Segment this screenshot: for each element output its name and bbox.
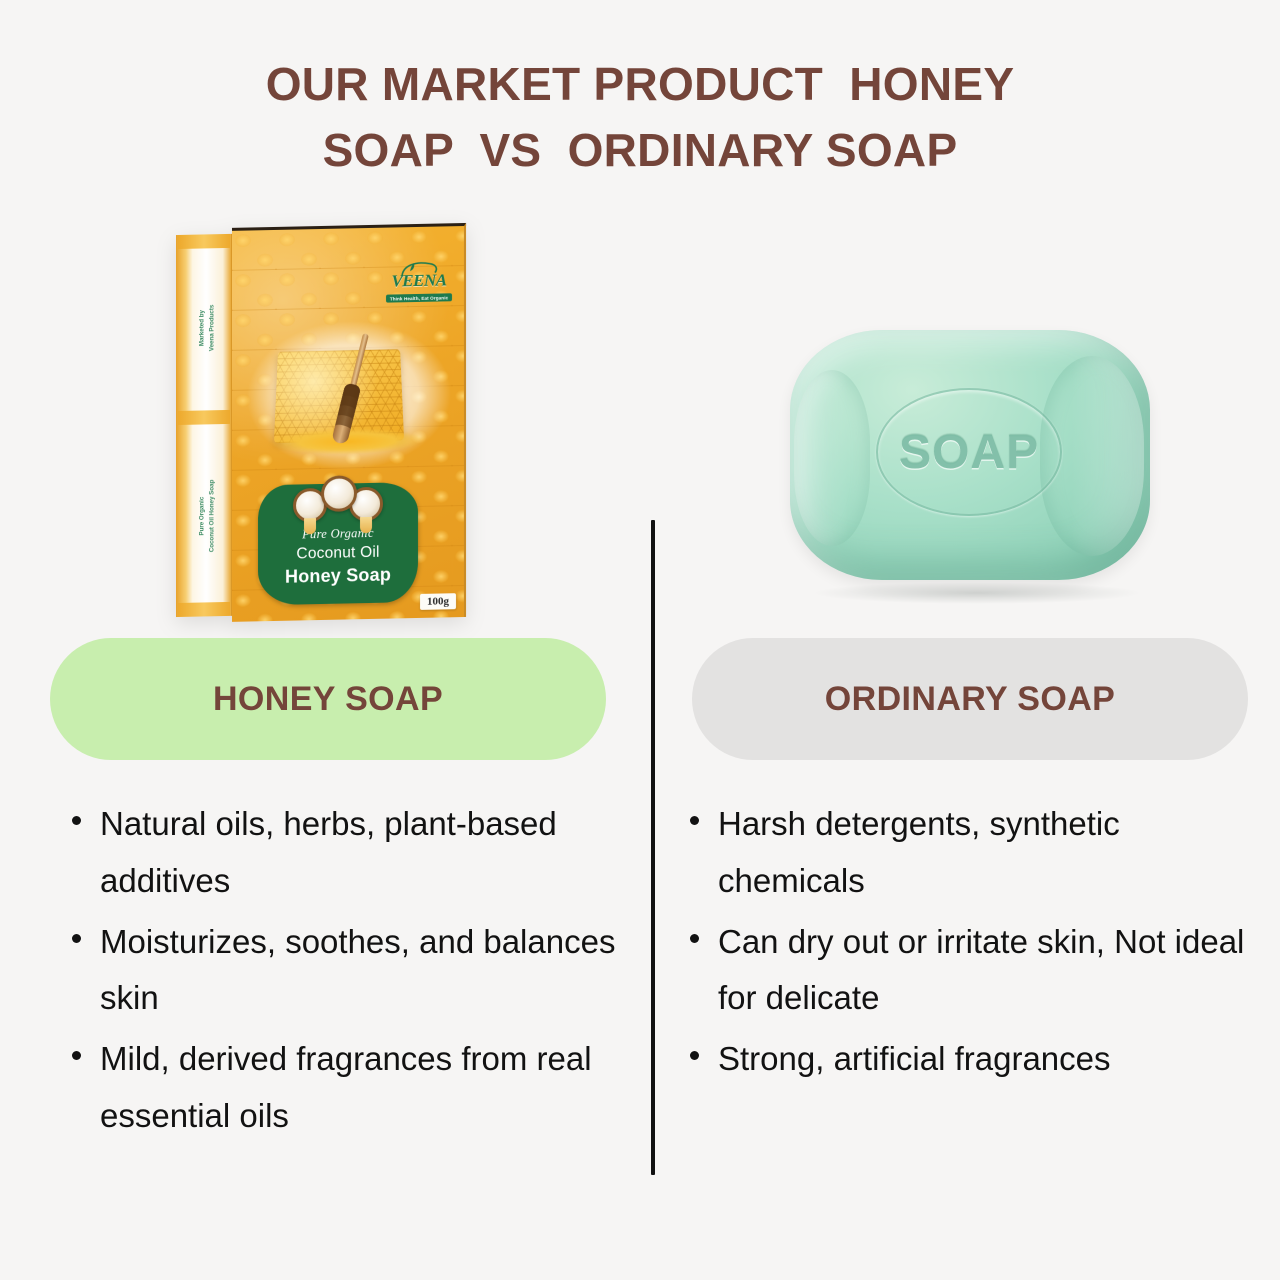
column-divider [651, 520, 655, 1175]
box-side-panel: Marketed by Veena Products Pure Organic … [176, 234, 232, 617]
side-panel-text-2: Pure Organic Coconut Oil Honey Soap [197, 441, 216, 591]
soap-emboss-text: SOAP [878, 390, 1060, 514]
brand-logo: VEENA Think Health, Eat Organic [384, 260, 454, 309]
soap-bar: SOAP [790, 330, 1150, 580]
soap-box: Marketed by Veena Products Pure Organic … [176, 223, 466, 619]
bullet-dot-icon [72, 816, 81, 825]
list-item-text: Natural oils, herbs, plant-based additiv… [100, 805, 557, 899]
side-band-middle [178, 410, 230, 425]
product-green-label: Pure Organic Coconut Oil Honey Soap [258, 482, 418, 605]
soap-left-facet [794, 370, 870, 546]
brand-name: VEENA [384, 270, 454, 291]
page-title: OUR MARKET PRODUCT HONEY SOAP VS ORDINAR… [0, 52, 1280, 184]
infographic-page: OUR MARKET PRODUCT HONEY SOAP VS ORDINAR… [0, 0, 1280, 1280]
page-title-line-2: SOAP VS ORDINARY SOAP [0, 118, 1280, 184]
list-item: Mild, derived fragrances from real essen… [62, 1031, 622, 1145]
honey-soap-pill-text: HONEY SOAP [213, 680, 443, 719]
page-title-line-1: OUR MARKET PRODUCT HONEY [0, 52, 1280, 118]
ordinary-soap-bullets: Harsh detergents, synthetic chemicals Ca… [680, 796, 1262, 1088]
soap-emboss-oval: SOAP [876, 388, 1062, 516]
list-item-text: Can dry out or irritate skin, Not ideal … [718, 923, 1244, 1017]
ordinary-soap-drawbacks-list: Harsh detergents, synthetic chemicals Ca… [680, 796, 1262, 1092]
list-item: Natural oils, herbs, plant-based additiv… [62, 796, 622, 910]
honey-soap-bullets: Natural oils, herbs, plant-based additiv… [62, 796, 622, 1145]
bullet-dot-icon [690, 816, 699, 825]
honey-soap-package-image: Marketed by Veena Products Pure Organic … [176, 226, 466, 616]
list-item-text: Strong, artificial fragrances [718, 1040, 1111, 1077]
list-item-text: Moisturizes, soothes, and balances skin [100, 923, 615, 1017]
bullet-dot-icon [72, 1051, 81, 1060]
label-coconut-oil: Coconut Oil [258, 540, 418, 567]
ordinary-soap-pill-text: ORDINARY SOAP [825, 680, 1115, 719]
side-band-top [178, 234, 230, 249]
brand-tagline: Think Health, Eat Organic [386, 293, 452, 302]
bullet-dot-icon [690, 934, 699, 943]
soap-drop-shadow [812, 582, 1142, 604]
weight-badge: 100g [420, 593, 456, 610]
list-item: Can dry out or irritate skin, Not ideal … [680, 914, 1262, 1028]
coconut-drip-right [360, 517, 372, 533]
bullet-dot-icon [690, 1051, 699, 1060]
list-item: Moisturizes, soothes, and balances skin [62, 914, 622, 1028]
side-band-bottom [178, 602, 230, 617]
list-item-text: Harsh detergents, synthetic chemicals [718, 805, 1120, 899]
list-item-text: Mild, derived fragrances from real essen… [100, 1040, 592, 1134]
list-item: Harsh detergents, synthetic chemicals [680, 796, 1262, 910]
honey-soap-benefits-list: Natural oils, herbs, plant-based additiv… [62, 796, 622, 1149]
ordinary-soap-label-pill: ORDINARY SOAP [692, 638, 1248, 760]
honey-soap-label-pill: HONEY SOAP [50, 638, 606, 760]
side-panel-text-1: Marketed by Veena Products [197, 253, 216, 403]
bullet-dot-icon [72, 934, 81, 943]
list-item: Strong, artificial fragrances [680, 1031, 1262, 1088]
box-front-panel: VEENA Think Health, Eat Organic Pure Org… [232, 223, 466, 622]
label-honey-soap: Honey Soap [258, 563, 418, 589]
coconut-illustration [293, 473, 383, 527]
coconut-drip-left [304, 518, 316, 534]
ordinary-soap-image: SOAP [790, 330, 1162, 598]
